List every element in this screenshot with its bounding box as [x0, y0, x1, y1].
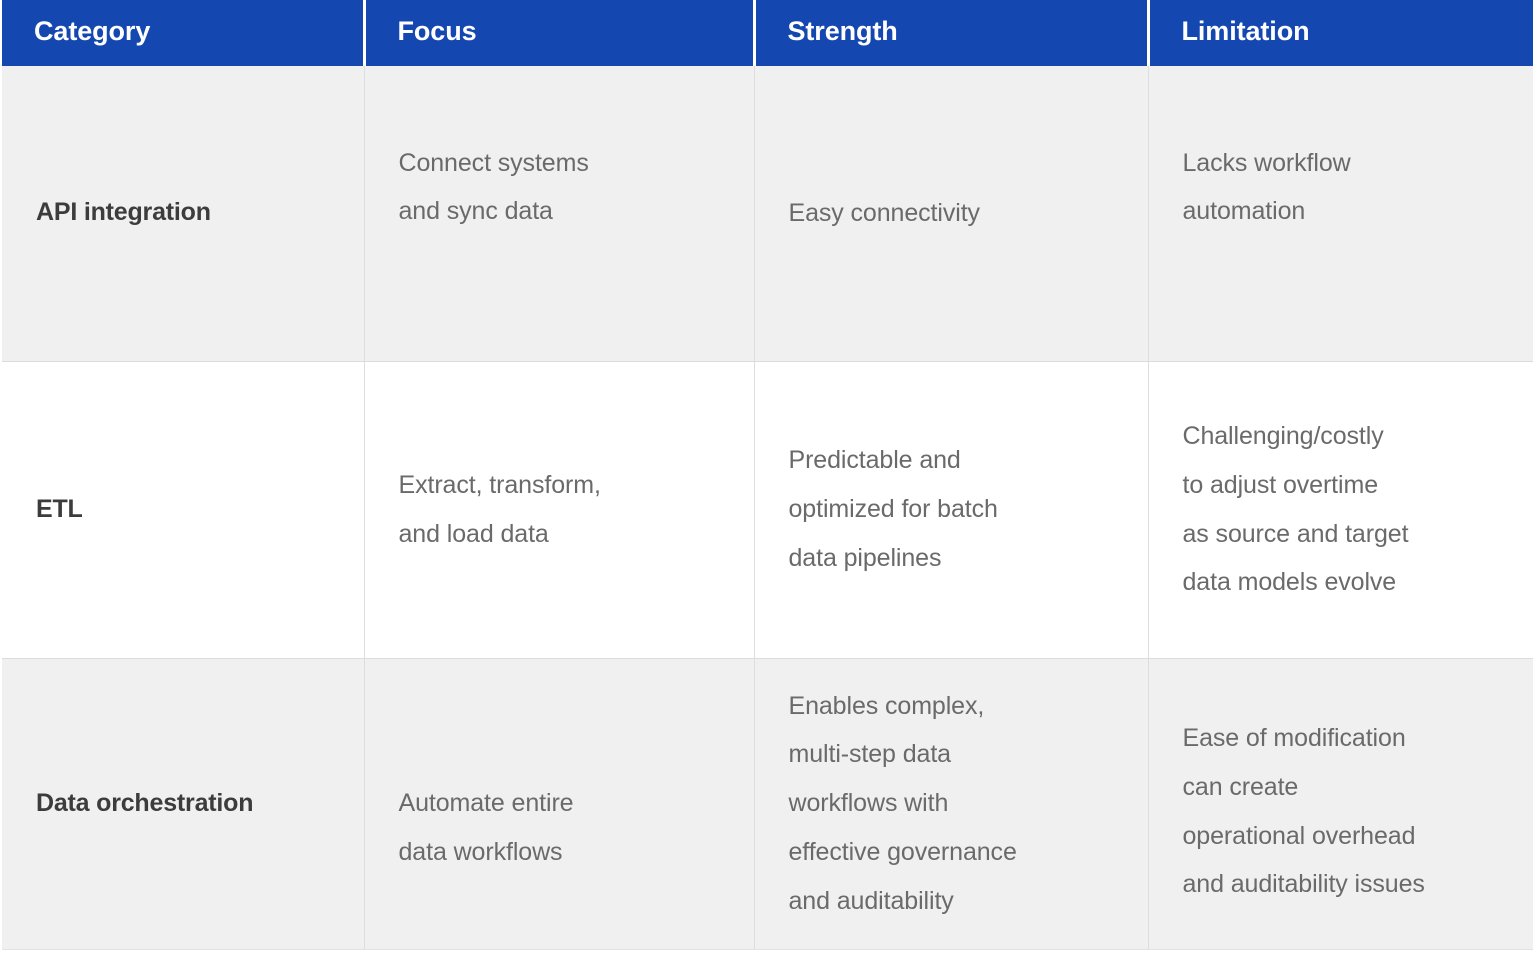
- text-line: Challenging/costly: [1183, 412, 1500, 461]
- cell-strength: Enables complex, multi-step data workflo…: [754, 658, 1148, 949]
- text-line: Easy connectivity: [789, 189, 1114, 238]
- limitation-text: Ease of modification can create operatio…: [1183, 714, 1500, 909]
- text-line: data models evolve: [1183, 558, 1500, 607]
- text-line: and auditability: [789, 877, 1114, 926]
- text-line: data workflows: [399, 828, 720, 877]
- cell-focus: Connect systems and sync data: [364, 66, 754, 361]
- text-line: and sync data: [399, 187, 720, 236]
- cell-category: API integration: [2, 66, 364, 361]
- category-label: ETL: [36, 493, 330, 527]
- text-line: Automate entire: [399, 779, 720, 828]
- text-line: operational overhead: [1183, 812, 1500, 861]
- comparison-table: Category Focus Strength Limitation API i…: [2, 0, 1533, 950]
- cell-limitation: Challenging/costly to adjust overtime as…: [1148, 361, 1533, 658]
- column-header-focus: Focus: [364, 0, 754, 66]
- category-label: Data orchestration: [36, 787, 330, 821]
- table-row: ETL Extract, transform, and load data Pr…: [2, 361, 1533, 658]
- table-header: Category Focus Strength Limitation: [2, 0, 1533, 66]
- focus-text: Automate entire data workflows: [399, 779, 720, 877]
- text-line: as source and target: [1183, 510, 1500, 559]
- cell-strength: Predictable and optimized for batch data…: [754, 361, 1148, 658]
- strength-text: Enables complex, multi-step data workflo…: [789, 682, 1114, 926]
- table-row: API integration Connect systems and sync…: [2, 66, 1533, 361]
- comparison-table-container: Category Focus Strength Limitation API i…: [0, 0, 1537, 958]
- text-line: Extract, transform,: [399, 461, 720, 510]
- strength-text: Easy connectivity: [789, 189, 1114, 238]
- table-body: API integration Connect systems and sync…: [2, 66, 1533, 949]
- text-line: data pipelines: [789, 534, 1114, 583]
- column-header-limitation: Limitation: [1148, 0, 1533, 66]
- column-header-strength: Strength: [754, 0, 1148, 66]
- text-line: Predictable and: [789, 436, 1114, 485]
- column-header-category: Category: [2, 0, 364, 66]
- text-line: and load data: [399, 510, 720, 559]
- cell-focus: Automate entire data workflows: [364, 658, 754, 949]
- focus-text: Connect systems and sync data: [399, 139, 720, 237]
- table-header-row: Category Focus Strength Limitation: [2, 0, 1533, 66]
- strength-text: Predictable and optimized for batch data…: [789, 436, 1114, 582]
- cell-limitation: Lacks workflow automation: [1148, 66, 1533, 361]
- cell-category: Data orchestration: [2, 658, 364, 949]
- text-line: can create: [1183, 763, 1500, 812]
- cell-limitation: Ease of modification can create operatio…: [1148, 658, 1533, 949]
- text-line: multi-step data: [789, 730, 1114, 779]
- limitation-text: Lacks workflow automation: [1183, 139, 1500, 237]
- text-line: Enables complex,: [789, 682, 1114, 731]
- limitation-text: Challenging/costly to adjust overtime as…: [1183, 412, 1500, 607]
- text-line: Lacks workflow: [1183, 139, 1500, 188]
- text-line: Ease of modification: [1183, 714, 1500, 763]
- text-line: automation: [1183, 187, 1500, 236]
- text-line: Connect systems: [399, 139, 720, 188]
- cell-strength: Easy connectivity: [754, 66, 1148, 361]
- text-line: workflows with: [789, 779, 1114, 828]
- category-label: API integration: [36, 196, 330, 230]
- table-row: Data orchestration Automate entire data …: [2, 658, 1533, 949]
- text-line: and auditability issues: [1183, 860, 1500, 909]
- text-line: optimized for batch: [789, 485, 1114, 534]
- text-line: effective governance: [789, 828, 1114, 877]
- text-line: to adjust overtime: [1183, 461, 1500, 510]
- cell-category: ETL: [2, 361, 364, 658]
- focus-text: Extract, transform, and load data: [399, 461, 720, 559]
- cell-focus: Extract, transform, and load data: [364, 361, 754, 658]
